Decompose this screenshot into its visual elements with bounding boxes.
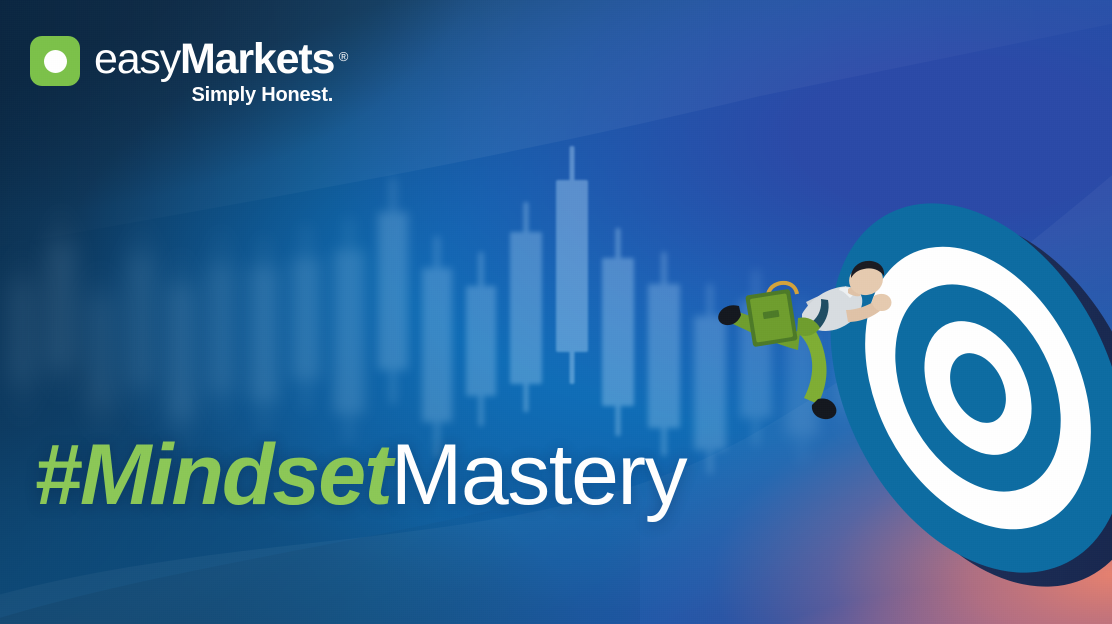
headline-hashtag-mindset: #Mindset — [34, 427, 391, 523]
logo-text-block: easyMarkets® Simply Honest. — [94, 36, 334, 107]
headline-mastery: Mastery — [391, 427, 686, 523]
logo-mark-icon — [30, 36, 80, 86]
brand-logo[interactable]: easyMarkets® Simply Honest. — [30, 36, 334, 107]
logo-tagline: Simply Honest. — [94, 84, 334, 107]
page-title: #MindsetMastery — [34, 427, 686, 523]
logo-word-markets: Markets — [180, 35, 334, 83]
logo-dot-icon — [44, 50, 67, 73]
registered-trademark-icon: ® — [339, 34, 347, 80]
running-businessman-icon — [706, 256, 896, 421]
logo-wordmark: easyMarkets® — [94, 36, 334, 82]
marketing-banner: easyMarkets® Simply Honest. #MindsetMast… — [0, 0, 1112, 624]
logo-word-easy: easy — [94, 35, 180, 83]
